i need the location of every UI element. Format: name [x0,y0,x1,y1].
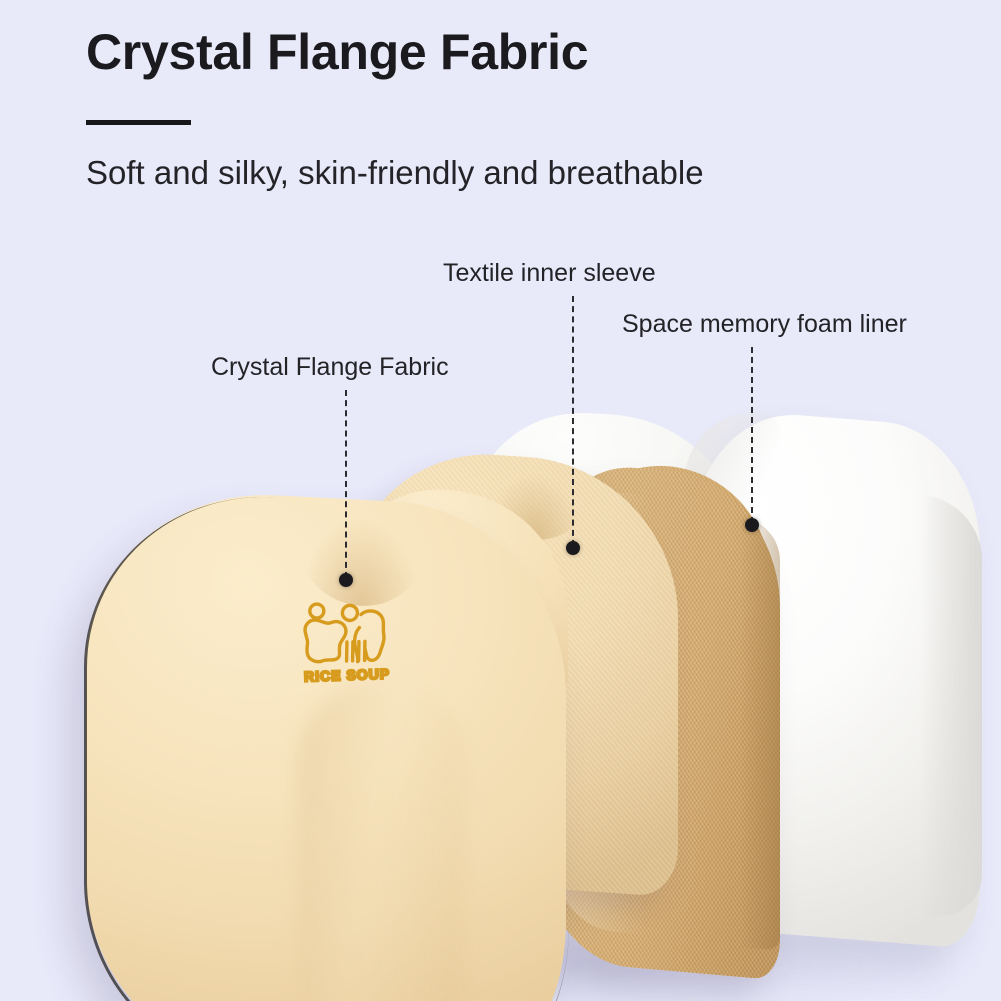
leader-line-crystal-flange-fabric [345,390,347,578]
page-subtitle: Soft and silky, skin-friendly and breath… [86,153,704,193]
cat-outline-icon: RICE SOUP [292,596,401,692]
leader-line-textile-inner-sleeve [572,296,574,546]
product-infographic: Crystal Flange Fabric Soft and silky, sk… [0,0,1001,1001]
crystal-flange-fabric-cushion [86,485,566,1001]
leader-dot-crystal-flange-fabric [339,573,353,587]
leader-dot-textile-inner-sleeve [566,541,580,555]
brand-logo: RICE SOUP [292,596,401,692]
leader-dot-space-memory-foam-liner [745,518,759,532]
annotation-label-textile-inner-sleeve: Textile inner sleeve [443,258,656,288]
annotation-label-crystal-flange-fabric: Crystal Flange Fabric [211,352,449,382]
page-title: Crystal Flange Fabric [86,24,588,82]
annotation-label-space-memory-foam-liner: Space memory foam liner [622,309,907,339]
leader-line-space-memory-foam-liner [751,347,753,523]
brand-logo-text: RICE SOUP [304,666,391,685]
title-underline-rule [86,120,191,125]
